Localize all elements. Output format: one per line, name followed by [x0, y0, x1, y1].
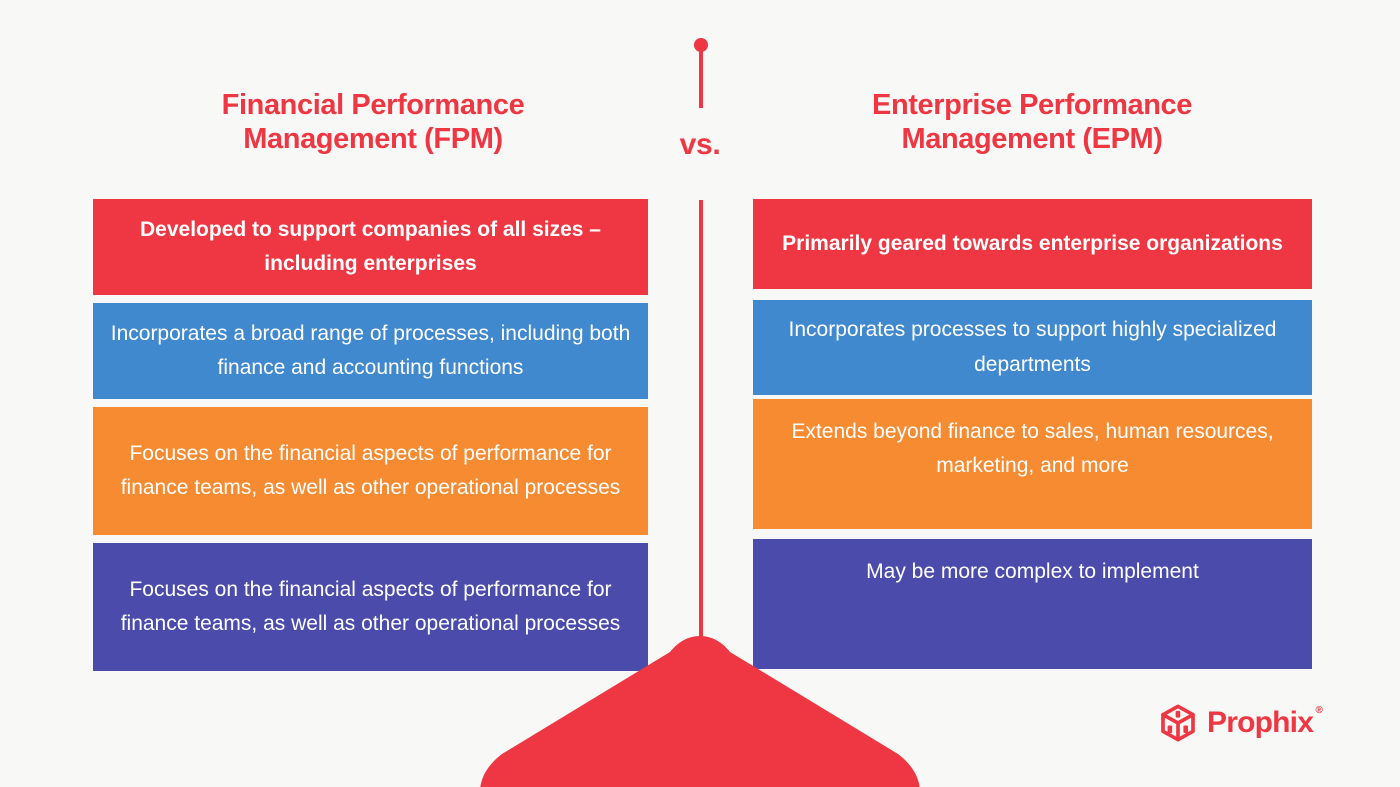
column-heading-epm: Enterprise Performance Management (EPM) [752, 88, 1312, 156]
column-heading-epm-line2: Management (EPM) [752, 122, 1312, 156]
fpm-statement-box-4: Focuses on the financial aspects of perf… [93, 543, 648, 671]
infographic-canvas: vs. Financial Performance Management (FP… [0, 0, 1400, 787]
prophix-logo: Prophix ® [1158, 703, 1313, 743]
column-heading-fpm-line1: Financial Performance [93, 88, 653, 122]
epm-statement-text-3: Extends beyond finance to sales, human r… [767, 415, 1298, 483]
balance-pole-top [699, 46, 703, 108]
prophix-wordmark-text: Prophix [1207, 706, 1313, 739]
fpm-statement-box-2: Incorporates a broad range of processes,… [93, 303, 648, 399]
fpm-statement-text-4: Focuses on the financial aspects of perf… [107, 573, 634, 641]
epm-statement-box-3: Extends beyond finance to sales, human r… [753, 399, 1312, 529]
fpm-statement-text-3: Focuses on the financial aspects of perf… [107, 437, 634, 505]
column-heading-fpm-line2: Management (FPM) [93, 122, 653, 156]
column-heading-fpm: Financial Performance Management (FPM) [93, 88, 653, 156]
registered-trademark-icon: ® [1316, 706, 1323, 716]
balance-pole-main [699, 200, 703, 680]
epm-statement-box-2: Incorporates processes to support highly… [753, 300, 1312, 395]
epm-statement-text-4: May be more complex to implement [767, 555, 1298, 589]
column-heading-epm-line1: Enterprise Performance [752, 88, 1312, 122]
epm-statement-text-1: Primarily geared towards enterprise orga… [767, 227, 1298, 261]
fpm-statement-text-1: Developed to support companies of all si… [107, 213, 634, 281]
fpm-statement-box-3: Focuses on the financial aspects of perf… [93, 407, 648, 535]
epm-statement-box-4: May be more complex to implement [753, 539, 1312, 669]
fpm-statement-text-2: Incorporates a broad range of processes,… [107, 317, 634, 385]
epm-statement-box-1: Primarily geared towards enterprise orga… [753, 199, 1312, 289]
prophix-wordmark: Prophix ® [1207, 708, 1313, 738]
fpm-statement-box-1: Developed to support companies of all si… [93, 199, 648, 295]
epm-statement-text-2: Incorporates processes to support highly… [767, 313, 1298, 381]
prophix-cube-icon [1158, 703, 1198, 743]
